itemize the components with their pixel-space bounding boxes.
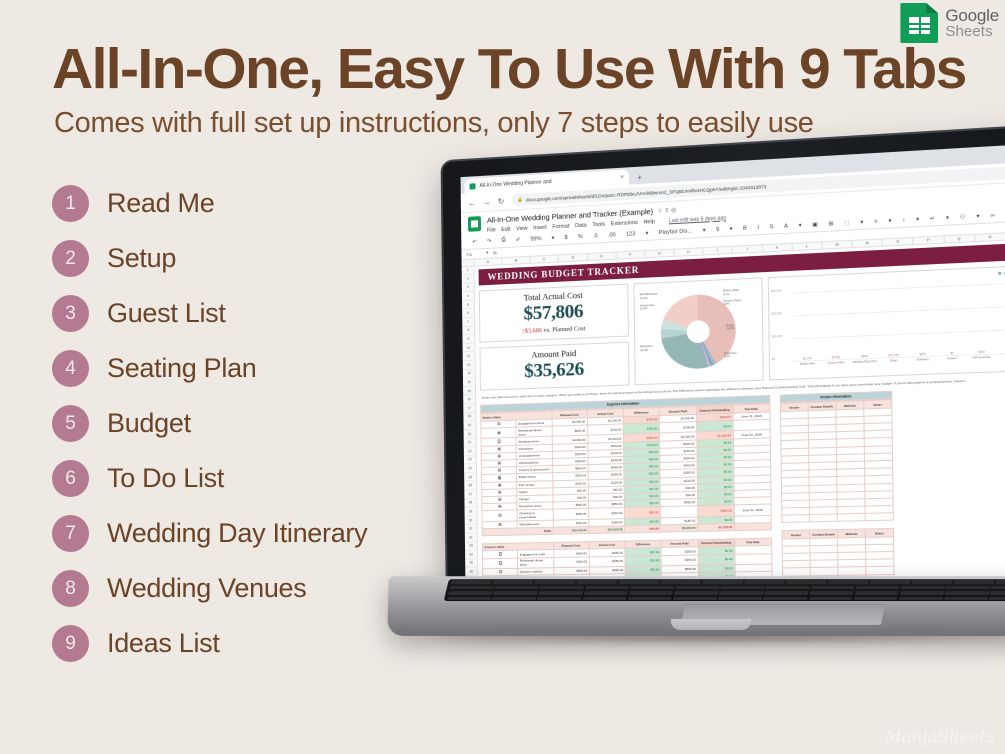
toolbar-button[interactable]: ⎙	[498, 237, 508, 245]
item-name: Cleaning & preservation	[517, 509, 553, 520]
kpi-total-actual-cost: Total Actual Cost $57,806 ↑$3,686 vs. Pl…	[479, 283, 629, 342]
toolbar-button[interactable]: ↶	[469, 239, 480, 246]
keyboard-key	[764, 591, 808, 595]
row-header[interactable]: 31	[465, 525, 477, 534]
toolbar-button[interactable]: $	[561, 234, 570, 241]
total-actual: $10,100.00	[589, 526, 625, 534]
keyboard-key	[870, 580, 911, 584]
cell-actual: $280.00	[589, 556, 625, 567]
toolbar-button[interactable]: ⬚	[841, 219, 853, 226]
feature-label: Guest List	[107, 298, 226, 329]
feature-number-badge: 1	[52, 185, 89, 222]
checkbox-icon[interactable]	[497, 422, 500, 425]
bar-data-label: $17,375	[889, 353, 899, 357]
feature-label: Setup	[107, 243, 176, 274]
keyboard-key	[582, 597, 626, 601]
keyboard-key	[451, 580, 492, 584]
cell-reference-box[interactable]: A1 ▾	[466, 250, 488, 257]
gridline	[793, 304, 1005, 316]
toolbar-button[interactable]: Playfair Dis...	[656, 228, 696, 236]
laptop-lid: All-In-One Wedding Planner and × + ← → ↻…	[441, 122, 1005, 612]
keyboard-key	[673, 597, 717, 601]
pie-slice-label: Bride's Attire4.7%	[723, 289, 739, 297]
keyboard-key	[763, 597, 807, 601]
keyboard-key	[989, 597, 1005, 601]
bar-chart-legend: Planned CostActual Cost	[998, 269, 1005, 276]
lock-icon: 🔒	[517, 197, 523, 203]
pie-slice-label: Stationery0.3%	[724, 352, 737, 359]
keyboard-key	[584, 591, 628, 595]
keyboard-key	[539, 591, 583, 595]
toolbar-button[interactable]: ✐	[513, 236, 524, 243]
y-axis-tick: $30,000	[771, 289, 781, 293]
feature-label: Seating Plan	[107, 353, 257, 384]
menu-item-data[interactable]: Data	[575, 222, 587, 229]
toolbar-button[interactable]: ▾	[857, 219, 867, 226]
keyboard-key	[786, 580, 827, 584]
keyboard-key	[856, 586, 900, 590]
toolbar-button[interactable]: 99%	[527, 235, 544, 242]
vendor-table: VendorContact DetailsWebsiteNotes	[780, 400, 894, 524]
row-header[interactable]: 21	[464, 438, 476, 447]
bar-data-label: $2,500	[832, 356, 841, 359]
checkbox-icon[interactable]	[497, 447, 500, 450]
expense-table: Bride's AttirePlanned CostActual CostDif…	[480, 404, 772, 537]
gridline	[793, 327, 1005, 339]
chevron-down-icon[interactable]: ▾	[486, 250, 488, 256]
keyboard-key	[718, 597, 762, 601]
kpi-value: $35,626	[481, 356, 629, 384]
feature-number-badge: 9	[52, 625, 89, 662]
laptop-screen: All-In-One Wedding Planner and × + ← → ↻…	[461, 142, 1005, 598]
feature-label: To Do List	[107, 463, 224, 494]
menu-item-extensions[interactable]: Extensions	[611, 219, 638, 227]
select-all-corner[interactable]	[462, 259, 475, 266]
laptop-mockup: All-In-One Wedding Planner and × + ← → ↻…	[388, 160, 1005, 670]
kpi-column: Total Actual Cost $57,806 ↑$3,686 vs. Pl…	[479, 283, 630, 390]
toolbar-button[interactable]: ▾	[943, 214, 953, 221]
feature-label: Read Me	[107, 188, 214, 219]
feature-number-badge: 4	[52, 350, 89, 387]
keyboard-key	[991, 586, 1005, 590]
poster-canvas: Google Sheets All-In-One, Easy To Use Wi…	[0, 0, 1005, 754]
cell-paid: $280.00	[661, 555, 698, 566]
pie-slice-label: Reception41.5%	[640, 345, 653, 352]
feature-number-badge: 7	[52, 515, 89, 552]
keyboard-key	[809, 591, 853, 595]
bar-chart-plot: $0$10,000$20,000$30,000$2,700Bride's Att…	[792, 281, 1005, 361]
cell-due	[735, 553, 772, 565]
keyboard-key	[628, 597, 672, 601]
feature-number-badge: 6	[52, 460, 89, 497]
keyboard-key	[660, 580, 701, 584]
row-header[interactable]: 30	[465, 516, 477, 525]
row-header[interactable]: 25	[464, 473, 476, 482]
keyboard-key	[675, 586, 719, 590]
vendor-cell[interactable]	[837, 514, 865, 522]
toolbar-button[interactable]: ▾	[700, 227, 709, 234]
page-title: All-In-One, Easy To Use With 9 Tabs	[52, 36, 966, 102]
checkbox-icon[interactable]	[497, 440, 500, 443]
y-axis-tick: $10,000	[772, 334, 782, 338]
row-header[interactable]: 35	[465, 559, 477, 568]
legend-swatch	[998, 271, 1002, 275]
keyboard-key	[901, 586, 945, 590]
row-header[interactable]: 28	[464, 499, 476, 508]
row-header[interactable]: 26	[464, 482, 476, 491]
tab-favicon-sheets-icon	[470, 183, 476, 189]
keyboard-key	[493, 580, 534, 584]
vendor-cell[interactable]	[782, 515, 810, 523]
keyboard-key	[450, 586, 494, 590]
x-axis-tick: Wedding Party Attire	[853, 360, 878, 364]
laptop-front-notch	[671, 619, 751, 630]
keyboard-row	[444, 596, 1005, 601]
bar-data-label: $2,700	[803, 357, 811, 360]
sheet-canvas[interactable]: WEDDING BUDGET TRACKER Total Actual Cost…	[475, 237, 1005, 598]
keyboard-key	[447, 597, 491, 601]
keyboard-key	[899, 597, 943, 601]
cell-difference: $20.00	[625, 555, 661, 566]
toolbar-button[interactable]: ▾	[973, 213, 983, 220]
back-icon[interactable]: ←	[468, 198, 476, 207]
keyboard-key	[995, 580, 1005, 584]
kpi-delta-value: $3,686	[525, 326, 542, 334]
pie-slice-label: Honeymoon12.5%	[640, 304, 655, 312]
y-axis-tick: $0	[772, 358, 775, 361]
checkbox-icon[interactable]	[499, 570, 502, 573]
formula-fx-icon: fx	[493, 250, 497, 255]
toolbar-button[interactable]: ▾	[727, 226, 736, 233]
cell-outstanding: -$350.00	[697, 505, 734, 517]
menu-item-view[interactable]: View	[516, 225, 528, 232]
row-header[interactable]: 34	[465, 551, 477, 560]
checkbox-icon[interactable]	[498, 476, 501, 479]
toolbar-button[interactable]: ↷	[484, 238, 495, 245]
keyboard-key	[944, 597, 988, 601]
feature-label: Ideas List	[107, 628, 220, 659]
toolbar-button[interactable]: A	[781, 223, 791, 230]
kpi-and-charts-row: Total Actual Cost $57,806 ↑$3,686 vs. Pl…	[479, 263, 1005, 390]
row-header[interactable]: 22	[464, 447, 476, 456]
toolbar-button[interactable]: ↵	[927, 215, 939, 222]
pie-slice-label: Groom's Attire3.9%	[723, 299, 741, 307]
toolbar-button[interactable]: ≡	[871, 218, 881, 225]
keyboard-key	[853, 597, 897, 601]
keyboard-key	[702, 580, 743, 584]
keyboard-key	[585, 586, 629, 590]
laptop-keyboard	[444, 579, 1005, 601]
cell-actual: $350.00	[588, 508, 624, 520]
row-header[interactable]: 24	[464, 464, 476, 473]
bar-data-label: $450	[978, 350, 984, 353]
menu-item-file[interactable]: File	[487, 227, 496, 233]
toolbar-button[interactable]: 9	[713, 226, 723, 233]
checkbox-icon[interactable]	[498, 483, 501, 486]
cell-planned: $300.00	[553, 509, 589, 521]
keyboard-key	[828, 580, 869, 584]
checkbox-icon[interactable]	[497, 469, 500, 472]
toolbar-button[interactable]: ▾	[885, 217, 895, 224]
laptop-base	[387, 576, 1005, 636]
cell-planned: $300.00	[553, 557, 589, 568]
menu-item-tools[interactable]: Tools	[592, 221, 605, 228]
close-icon[interactable]: ×	[620, 174, 624, 180]
checkbox-icon[interactable]	[498, 490, 501, 493]
pie-slice-label: Miscellaneous10.0%	[640, 293, 658, 301]
toolbar-button[interactable]: ↕	[899, 217, 909, 224]
bar-data-label: $0	[950, 351, 953, 354]
feature-number-badge: 8	[52, 570, 89, 607]
keyboard-key	[719, 591, 763, 595]
row-header[interactable]: 32	[465, 533, 477, 542]
keyboard-key	[946, 586, 990, 590]
cell-paid	[661, 506, 698, 518]
x-axis-tick: Flowers	[947, 357, 957, 361]
x-axis-tick: Groom's Attire	[828, 361, 845, 365]
vendor-cell[interactable]	[865, 513, 893, 521]
forward-icon[interactable]: →	[483, 197, 491, 206]
keyboard-key	[808, 597, 852, 601]
budget-donut-chart: Reception41.5%Rings26.2%Honeymoon12.5%Mi…	[633, 277, 763, 385]
cell-outstanding: $0.00	[698, 554, 735, 566]
checkbox-icon[interactable]	[498, 552, 501, 555]
cell-due: June 01, 2026	[734, 504, 771, 516]
menu-item-format[interactable]: Format	[552, 223, 569, 230]
toolbar-button[interactable]: ▾	[795, 222, 804, 229]
keyboard-key	[765, 586, 809, 590]
x-axis-tick: Stationery	[917, 358, 929, 362]
gridline	[792, 280, 1005, 293]
toolbar-button[interactable]: .0	[590, 232, 601, 239]
x-axis-tick: Rings	[890, 359, 897, 362]
menu-item-insert[interactable]: Insert	[533, 224, 547, 231]
keyboard-key	[618, 580, 659, 584]
row-header[interactable]: 23	[464, 456, 476, 465]
keyboard-key	[540, 586, 584, 590]
keyboard-key	[912, 580, 953, 584]
toolbar-button[interactable]: .00	[605, 232, 619, 239]
toolbar-button[interactable]: 123	[623, 231, 639, 238]
toolbar-button[interactable]: ▾	[549, 235, 558, 242]
checkbox-icon[interactable]	[498, 514, 501, 517]
keyboard-key	[630, 586, 674, 590]
checkbox[interactable]	[483, 558, 518, 569]
keyboard-key	[744, 580, 785, 584]
feature-number-badge: 5	[52, 405, 89, 442]
checkbox-icon[interactable]	[497, 454, 500, 457]
budget-tables: Expense InformationBride's AttirePlanned…	[480, 385, 1005, 598]
keyboard-key	[990, 591, 1005, 595]
total-outstanding: -$1,750.00	[697, 524, 734, 532]
feature-number-badge: 2	[52, 240, 89, 277]
star-icon[interactable]: ☆ ⇪ ◎	[657, 207, 676, 215]
keyboard-key	[577, 580, 618, 584]
keyboard-key	[674, 591, 718, 595]
watermark: ManjaSheets	[885, 727, 995, 746]
toolbar-button[interactable]: I	[754, 224, 762, 231]
keyboard-key	[448, 591, 492, 595]
cell-reference-value: A1	[466, 251, 472, 256]
toolbar-button[interactable]: S	[766, 223, 776, 230]
row-header[interactable]: 29	[465, 507, 477, 516]
brand-wordmark: Google Sheets	[945, 7, 999, 39]
toolbar-button[interactable]: ▣	[809, 221, 821, 228]
keyboard-key	[720, 586, 764, 590]
item-name: Rehearsal dinner attire	[518, 557, 554, 568]
new-tab-icon[interactable]: +	[637, 173, 642, 182]
checkbox-icon[interactable]	[498, 523, 501, 526]
keyboard-key	[495, 586, 539, 590]
legend-entry: Planned Cost	[998, 270, 1005, 275]
keyboard-key	[537, 597, 581, 601]
checkbox-icon[interactable]	[499, 561, 502, 564]
keyboard-key	[629, 591, 673, 595]
vendor-information-panel: Vendor InformationVendorContact DetailsW…	[780, 391, 896, 598]
sheets-doc-icon	[468, 216, 481, 232]
cell-difference: -$50.00	[624, 507, 660, 519]
keyboard-key	[492, 597, 536, 601]
x-axis-tick: Bride's Attire	[800, 362, 815, 366]
toolbar-button[interactable]: ▾	[642, 230, 651, 237]
feature-number-badge: 3	[52, 295, 89, 332]
toolbar-button[interactable]: ∞	[987, 212, 998, 219]
row-header[interactable]: 27	[464, 490, 476, 499]
kpi-amount-paid: Amount Paid $35,626	[479, 341, 629, 390]
feature-label: Wedding Day Itinerary	[107, 518, 367, 549]
checkbox-icon[interactable]	[497, 431, 500, 434]
sheet-body: 1234567891011121314151617181920212223242…	[462, 237, 1005, 598]
kpi-delta-suffix: vs. Planned Cost	[543, 325, 585, 334]
keyboard-key	[811, 586, 855, 590]
pie-slice-label: Rings26.2%	[726, 324, 734, 331]
row-header[interactable]: 19	[463, 421, 475, 430]
keyboard-key	[535, 580, 576, 584]
expense-information-panel: Expense InformationBride's AttirePlanned…	[480, 395, 774, 598]
toolbar-button[interactable]: ⚇	[957, 214, 969, 221]
vendor-cell[interactable]	[809, 514, 837, 522]
checkbox-icon[interactable]	[498, 498, 501, 501]
toolbar-button[interactable]: B	[740, 225, 750, 232]
feature-label: Wedding Venues	[107, 573, 306, 604]
keyboard-key	[855, 591, 899, 595]
keyboard-key	[493, 591, 537, 595]
total-difference: -$40.00	[625, 525, 661, 533]
checkbox-icon[interactable]	[498, 505, 501, 508]
keyboard-key	[900, 591, 944, 595]
planned-vs-actual-bar-chart: Planned CostActual Cost $0$10,000$20,000…	[768, 263, 1005, 380]
total-planned: $10,140.00	[553, 527, 589, 535]
keyboard-key	[945, 591, 989, 595]
toolbar-button[interactable]: ▾	[913, 216, 923, 223]
x-axis-tick: Hair/Grooming	[973, 356, 991, 360]
bar-data-label: $800	[862, 355, 868, 358]
menu-item-edit[interactable]: Edit	[501, 226, 510, 233]
feature-label: Budget	[107, 408, 191, 439]
checkbox[interactable]	[482, 510, 517, 521]
y-axis-tick: $20,000	[771, 312, 781, 316]
tab-title: All-In-One Wedding Planner and	[479, 175, 616, 189]
brand-google-label: Google	[945, 7, 999, 24]
page-subtitle: Comes with full set up instructions, onl…	[54, 107, 814, 140]
row-header[interactable]: 33	[465, 542, 477, 551]
total-paid: $8,350.00	[661, 524, 698, 532]
toolbar-button[interactable]: ⊞	[825, 220, 836, 227]
checkbox-icon[interactable]	[497, 461, 500, 464]
keyboard-key	[954, 580, 995, 584]
reload-icon[interactable]: ↻	[498, 196, 505, 205]
menu-item-help[interactable]: Help	[643, 218, 655, 225]
row-header[interactable]: 20	[464, 430, 476, 439]
bar-data-label: $150	[920, 352, 926, 355]
toolbar-button[interactable]: %	[575, 233, 586, 240]
